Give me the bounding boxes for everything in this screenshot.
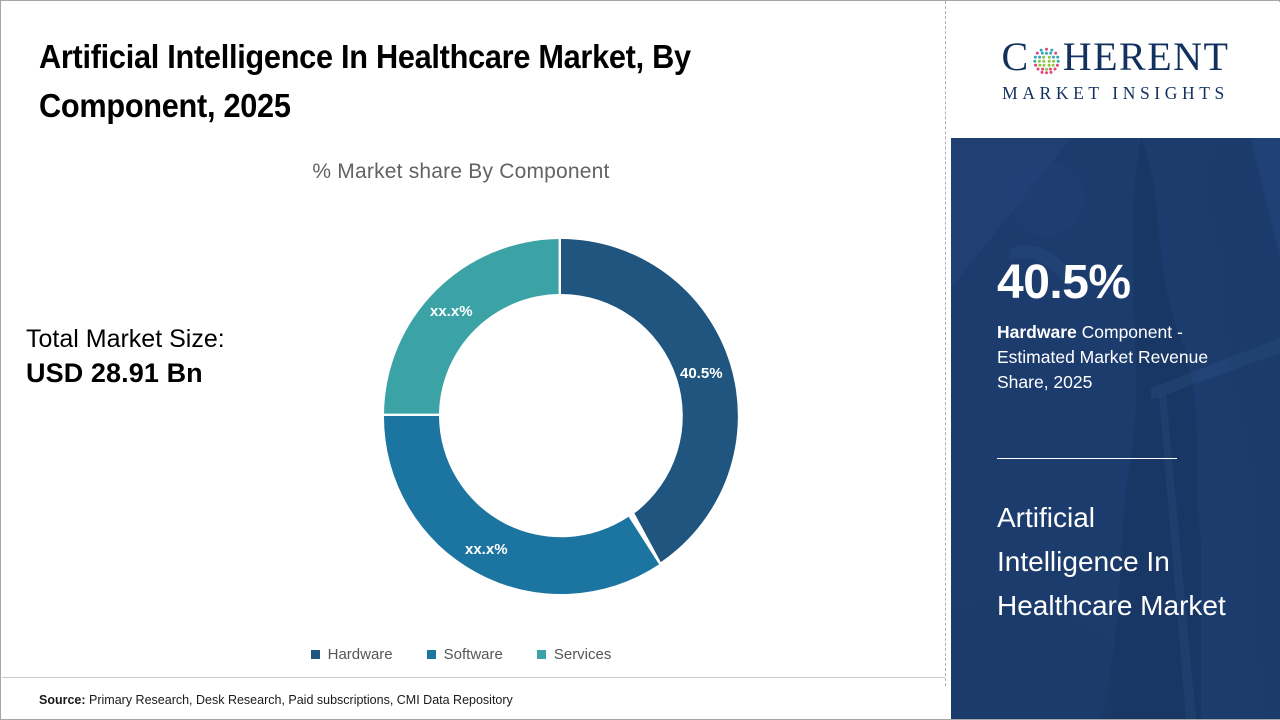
vertical-dashed-divider bbox=[945, 1, 946, 686]
legend-label-software: Software bbox=[444, 646, 503, 663]
market-size-value: USD 28.91 Bn bbox=[26, 356, 326, 392]
panel-description: Hardware Component - Estimated Market Re… bbox=[997, 320, 1247, 395]
chart-legend: Hardware Software Services bbox=[1, 646, 921, 663]
highlight-panel: 40.5% Hardware Component - Estimated Mar… bbox=[951, 138, 1280, 719]
panel-percentage: 40.5% bbox=[997, 258, 1247, 308]
page-title: Artificial Intelligence In Healthcare Ma… bbox=[39, 33, 839, 131]
slice-software[interactable] bbox=[384, 416, 659, 594]
logo: C bbox=[951, 2, 1280, 138]
source-divider bbox=[2, 677, 945, 678]
legend-item-hardware[interactable]: Hardware bbox=[311, 646, 393, 663]
legend-label-services: Services bbox=[554, 646, 612, 663]
legend-swatch-services bbox=[537, 650, 546, 659]
donut-chart bbox=[376, 231, 746, 601]
legend-swatch-hardware bbox=[311, 650, 320, 659]
slice-label-services: xx.x% bbox=[430, 303, 473, 320]
panel-background-texture bbox=[951, 138, 1280, 719]
slice-services[interactable] bbox=[384, 239, 559, 414]
panel-description-bold: Hardware bbox=[997, 322, 1077, 342]
donut-svg bbox=[376, 231, 746, 601]
panel-market-name: Artificial Intelligence In Healthcare Ma… bbox=[997, 496, 1237, 629]
logo-tagline: MARKET INSIGHTS bbox=[1002, 83, 1229, 104]
slice-label-hardware: 40.5% bbox=[680, 365, 723, 382]
legend-item-software[interactable]: Software bbox=[427, 646, 503, 663]
chart-pane: Artificial Intelligence In Healthcare Ma… bbox=[1, 1, 946, 719]
globe-icon bbox=[1031, 43, 1062, 74]
source-label: Source: bbox=[39, 693, 86, 707]
logo-letter-c: C bbox=[1002, 37, 1030, 77]
slice-hardware[interactable] bbox=[561, 239, 738, 562]
legend-swatch-software bbox=[427, 650, 436, 659]
panel-divider bbox=[997, 458, 1177, 459]
legend-item-services[interactable]: Services bbox=[537, 646, 612, 663]
market-size-label: Total Market Size: bbox=[26, 323, 326, 356]
source-text: Primary Research, Desk Research, Paid su… bbox=[89, 693, 513, 707]
slice-label-software: xx.x% bbox=[465, 541, 508, 558]
panel-stat-block: 40.5% Hardware Component - Estimated Mar… bbox=[997, 258, 1247, 395]
logo-wordmark: C bbox=[1002, 37, 1230, 77]
legend-label-hardware: Hardware bbox=[328, 646, 393, 663]
infographic-page: Artificial Intelligence In Healthcare Ma… bbox=[0, 0, 1280, 720]
logo-letters-herent: HERENT bbox=[1063, 37, 1230, 77]
total-market-size: Total Market Size: USD 28.91 Bn bbox=[26, 323, 326, 392]
source-note: Source: Primary Research, Desk Research,… bbox=[39, 693, 513, 707]
chart-subtitle: % Market share By Component bbox=[1, 160, 921, 184]
